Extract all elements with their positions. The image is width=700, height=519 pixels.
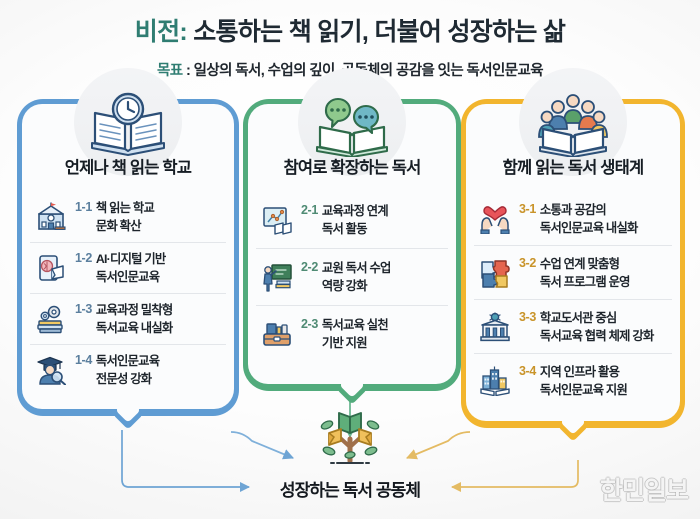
item-label-wrap: AI·디지털 기반 독서인문교육 — [96, 250, 166, 286]
item-number: 2-2 — [301, 259, 318, 275]
item-label-line1: 소통과 공감의 — [540, 203, 606, 217]
item-number: 3-1 — [519, 201, 536, 217]
list-item[interactable]: 3-3 학교도서관 중심 독서교육 협력 체제 강화 — [474, 299, 672, 353]
item-text: 1-2 AI·디지털 기반 독서인문교육 — [75, 250, 166, 286]
item-label-wrap: 독서인문교육 전문성 강화 — [96, 352, 159, 388]
item-text: 1-3 교육과정 밀착형 독서교육 내실화 — [75, 301, 172, 337]
books-gears-icon — [34, 303, 68, 335]
item-text: 3-3 학교도서관 중심 독서교육 협력 체제 강화 — [519, 309, 654, 345]
list-item[interactable]: 1-1 책 읽는 학교 문화 확산 — [30, 192, 226, 242]
open-book-with-clock-icon — [89, 91, 167, 157]
list-item[interactable]: 1-2 AI·디지털 기반 독서인문교육 — [30, 242, 226, 293]
item-label-line1: 교육과정 연계 — [322, 204, 388, 218]
item-label-line2: 문화 확산 — [96, 219, 141, 233]
list-item[interactable]: 1-4 독서인문교육 전문성 강화 — [30, 344, 226, 395]
item-label-line2: 독서 프로그램 운영 — [540, 275, 630, 289]
item-label-wrap: 교육과정 연계 독서 활동 — [322, 202, 388, 238]
item-number: 2-1 — [301, 202, 318, 218]
pillar-item-list-3: 3-1 소통과 공감의 독서인문교육 내실화 — [466, 188, 680, 413]
list-item[interactable]: 2-2 교원 독서 수업 역량 강화 — [256, 248, 448, 305]
goal-label: 성장하는 독서 공동체 — [0, 476, 700, 501]
teacher-chalkboard-icon — [260, 261, 294, 293]
book-tree-icon — [307, 403, 393, 469]
item-text: 2-2 교원 독서 수업 역량 강화 — [301, 259, 391, 295]
item-label-line2: 독서인문교육 내실화 — [540, 221, 638, 235]
puzzle-pieces-icon — [478, 257, 512, 289]
item-number: 1-2 — [75, 250, 92, 266]
card-body: 함께 읽는 독서 생태계 3-1 — [466, 104, 680, 421]
item-label-wrap: 지역 인프라 활용 독서인문교육 지원 — [540, 363, 627, 399]
school-building-icon — [34, 201, 68, 233]
chart-board-book-icon — [260, 204, 294, 236]
list-item[interactable]: 3-2 수업 연계 맞춤형 독서 프로그램 운영 — [474, 245, 672, 299]
item-label-line1: 수업 연계 맞춤형 — [540, 257, 619, 271]
item-label-line2: 전문성 강화 — [96, 372, 151, 386]
item-label-line2: 독서인문교육 지원 — [540, 383, 627, 397]
city-buildings-book-icon — [478, 365, 512, 397]
item-number: 3-3 — [519, 309, 536, 325]
pillar-title-2: 참여로 확장하는 독서 — [248, 154, 456, 188]
item-label-line2: 독서 활동 — [322, 222, 367, 236]
item-label-line1: 학교도서관 중심 — [540, 311, 617, 325]
item-label-line1: 독서인문교육 — [96, 354, 159, 368]
item-number: 2-3 — [301, 316, 318, 332]
item-label-line1: 지역 인프라 활용 — [540, 365, 619, 379]
item-label-wrap: 소통과 공감의 독서인문교육 내실화 — [540, 201, 638, 237]
item-label-wrap: 독서교육 실천 기반 지원 — [322, 316, 388, 352]
pillar-title-1: 언제나 책 읽는 학교 — [22, 154, 234, 188]
item-label-line1: 책 읽는 학교 — [96, 201, 154, 215]
item-label-line1: 교육과정 밀착형 — [96, 303, 173, 317]
pillar-card-2[interactable]: 참여로 확장하는 독서 — [248, 104, 456, 384]
item-text: 3-1 소통과 공감의 독서인문교육 내실화 — [519, 201, 638, 237]
item-label-wrap: 교원 독서 수업 역량 강화 — [322, 259, 391, 295]
list-item[interactable]: 1-3 교육과정 밀착형 독서교육 내실화 — [30, 293, 226, 344]
item-number: 1-4 — [75, 352, 92, 368]
speech-bubbles-book-icon — [314, 91, 390, 157]
item-label-line2: 독서교육 내실화 — [96, 321, 173, 335]
list-item[interactable]: 3-1 소통과 공감의 독서인문교육 내실화 — [474, 192, 672, 245]
pillar-column-3[interactable]: 함께 읽는 독서 생태계 3-1 — [466, 104, 680, 421]
list-item[interactable]: 2-1 교육과정 연계 독서 활동 — [256, 192, 448, 248]
pillar-title-3: 함께 읽는 독서 생태계 — [466, 154, 680, 188]
heart-in-hands-icon — [478, 203, 512, 235]
item-label-line2: 역량 강화 — [322, 279, 367, 293]
item-text: 2-1 교육과정 연계 독서 활동 — [301, 202, 388, 238]
item-label-line1: 교원 독서 수업 — [322, 261, 391, 275]
item-text: 3-4 지역 인프라 활용 독서인문교육 지원 — [519, 363, 627, 399]
item-label-line2: 독서교육 협력 체제 강화 — [540, 329, 654, 343]
tablet-brain-icon — [34, 252, 68, 284]
item-label-line2: 독서인문교육 — [96, 270, 159, 284]
item-text: 1-1 책 읽는 학교 문화 확산 — [75, 199, 154, 235]
pillar-card-1[interactable]: 언제나 책 읽는 학교 — [22, 104, 234, 409]
item-number: 1-1 — [75, 199, 92, 215]
toolbox-icon — [260, 318, 294, 350]
item-label-line2: 기반 지원 — [322, 336, 367, 350]
list-item[interactable]: 2-3 독서교육 실천 기반 지원 — [256, 305, 448, 362]
item-label-wrap: 수업 연계 맞춤형 독서 프로그램 운영 — [540, 255, 630, 291]
pillar-item-list-2: 2-1 교육과정 연계 독서 활동 — [248, 188, 456, 368]
list-item[interactable]: 3-4 지역 인프라 활용 독서인문교육 지원 — [474, 353, 672, 407]
item-number: 3-4 — [519, 363, 536, 379]
card-body: 참여로 확장하는 독서 — [248, 104, 456, 384]
item-text: 2-3 독서교육 실천 기반 지원 — [301, 316, 388, 352]
item-label-line1: AI·디지털 기반 — [96, 252, 166, 266]
item-text: 1-4 독서인문교육 전문성 강화 — [75, 352, 159, 388]
item-label-wrap: 교육과정 밀착형 독서교육 내실화 — [96, 301, 173, 337]
pillar-column-2[interactable]: 참여로 확장하는 독서 — [248, 104, 456, 384]
library-building-icon — [478, 311, 512, 343]
pillar-item-list-1: 1-1 책 읽는 학교 문화 확산 — [22, 188, 234, 401]
item-label-wrap: 학교도서관 중심 독서교육 협력 체제 강화 — [540, 309, 654, 345]
item-number: 1-3 — [75, 301, 92, 317]
card-body: 언제나 책 읽는 학교 — [22, 104, 234, 409]
item-number: 3-2 — [519, 255, 536, 271]
pillar-column-1[interactable]: 언제나 책 읽는 학교 — [22, 104, 234, 409]
item-text: 3-2 수업 연계 맞춤형 독서 프로그램 운영 — [519, 255, 630, 291]
graduate-magnifier-icon — [34, 354, 68, 386]
item-label-wrap: 책 읽는 학교 문화 확산 — [96, 199, 154, 235]
item-label-line1: 독서교육 실천 — [322, 318, 388, 332]
pillar-card-3[interactable]: 함께 읽는 독서 생태계 3-1 — [466, 104, 680, 421]
people-group-book-icon — [533, 91, 613, 157]
